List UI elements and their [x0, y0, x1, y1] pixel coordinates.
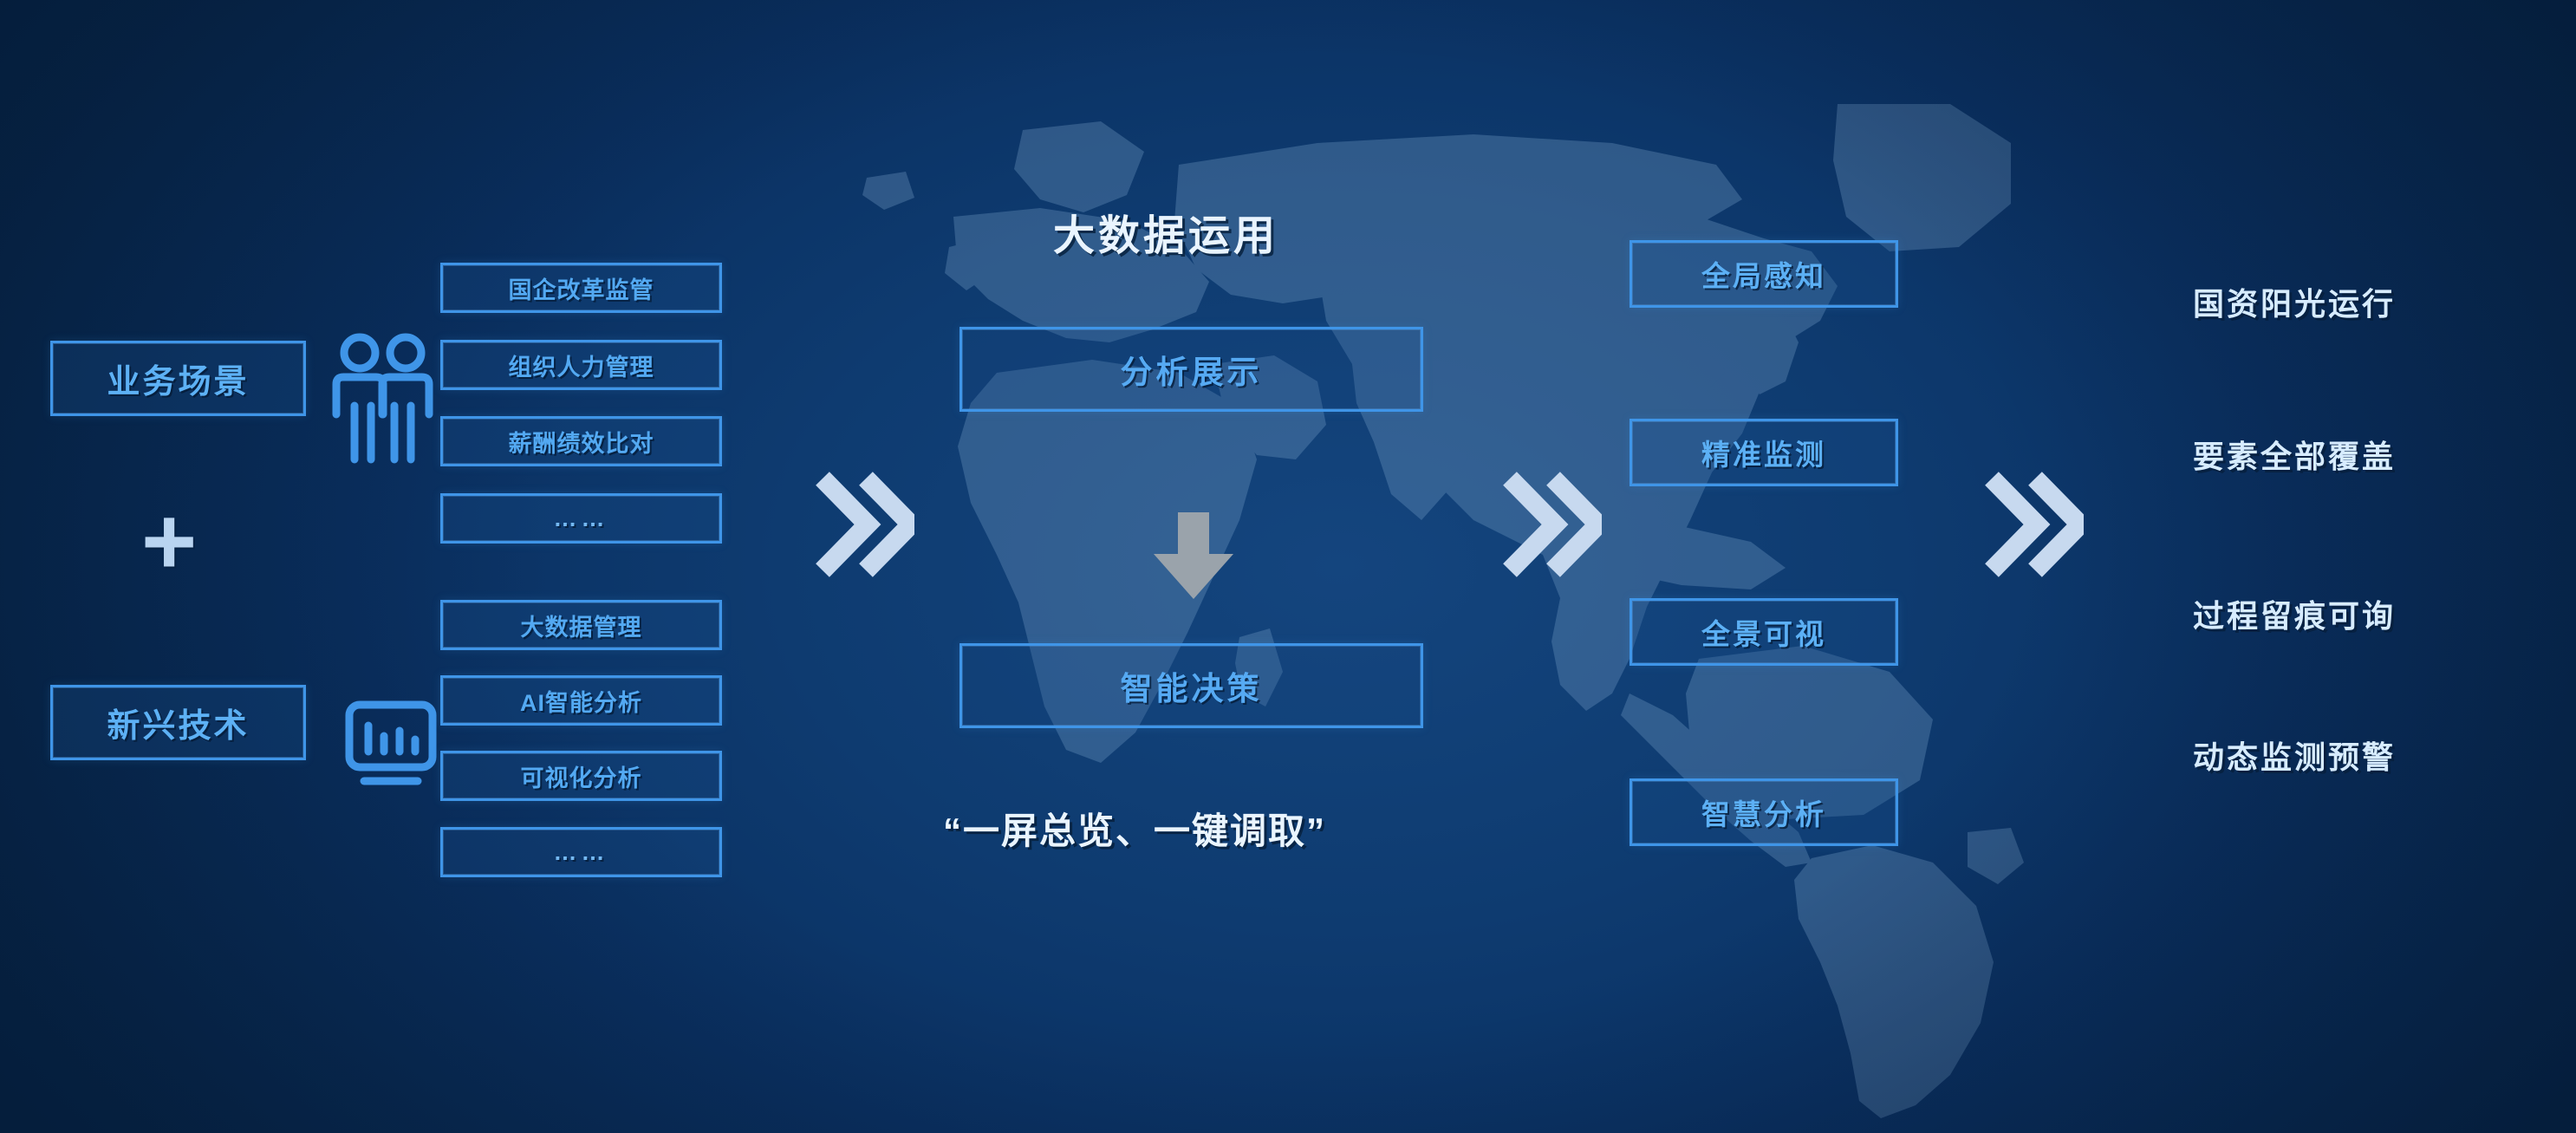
outcome-text-0: 国资阳光运行: [2193, 279, 2396, 324]
capability-box-0[interactable]: 全局感知: [1630, 240, 1898, 308]
capability-box-1[interactable]: 精准监测: [1630, 419, 1898, 486]
capability-label: 全景可视: [1701, 611, 1826, 653]
center-box-analysis-label: 分析展示: [1121, 346, 1263, 393]
page-title: 大数据运用: [1053, 201, 1278, 262]
input-box-business[interactable]: 业务场景: [50, 341, 306, 416]
list-item-label: 可视化分析: [521, 759, 642, 793]
list-item-label: 大数据管理: [521, 609, 642, 642]
outcome-text-2: 过程留痕可询: [2193, 591, 2396, 636]
list-item-business-1[interactable]: 组织人力管理: [440, 340, 722, 390]
outcome-text-1: 要素全部覆盖: [2193, 432, 2396, 477]
capability-label: 精准监测: [1701, 432, 1826, 473]
list-item-technology-0[interactable]: 大数据管理: [440, 600, 722, 650]
center-box-decision[interactable]: 智能决策: [959, 643, 1423, 728]
capability-label: 全局感知: [1701, 253, 1826, 295]
outcome-text-3: 动态监测预警: [2193, 733, 2396, 778]
list-item-technology-2[interactable]: 可视化分析: [440, 751, 722, 801]
world-map-background: [0, 0, 2576, 1133]
list-item-label: 薪酬绩效比对: [509, 425, 654, 459]
list-item-label: 组织人力管理: [509, 348, 654, 382]
down-arrow-icon: [1150, 509, 1237, 604]
chevron-arrow-2: [1498, 468, 1602, 581]
input-box-technology-label: 新兴技术: [107, 699, 249, 746]
input-box-technology[interactable]: 新兴技术: [50, 685, 306, 760]
capability-label: 智慧分析: [1701, 791, 1826, 833]
input-box-business-label: 业务场景: [107, 355, 249, 402]
list-item-label: ……: [554, 505, 609, 532]
capability-box-2[interactable]: 全景可视: [1630, 598, 1898, 666]
center-box-decision-label: 智能决策: [1121, 662, 1263, 709]
list-item-business-2[interactable]: 薪酬绩效比对: [440, 416, 722, 466]
list-item-label: 国企改革监管: [509, 271, 654, 305]
list-item-technology-1[interactable]: AI智能分析: [440, 675, 722, 726]
people-icon: [331, 329, 433, 468]
list-item-label: ……: [554, 839, 609, 866]
list-item-business-3[interactable]: ……: [440, 493, 722, 544]
chevron-arrow-3: [1980, 468, 2084, 581]
slide-canvas: 大数据运用 业务场景 + 新兴技术 国企改革监: [0, 0, 2576, 1133]
vignette-overlay: [0, 0, 2576, 1133]
list-item-business-0[interactable]: 国企改革监管: [440, 263, 722, 313]
list-item-label: AI智能分析: [520, 684, 642, 718]
chevron-arrow-1: [810, 468, 914, 581]
capability-box-3[interactable]: 智慧分析: [1630, 778, 1898, 846]
plus-symbol: +: [141, 494, 197, 589]
center-box-analysis[interactable]: 分析展示: [959, 327, 1423, 412]
highlight-quote: “一屏总览、一键调取”: [943, 802, 1326, 855]
list-item-technology-3[interactable]: ……: [440, 827, 722, 877]
chart-monitor-icon: [343, 698, 439, 793]
